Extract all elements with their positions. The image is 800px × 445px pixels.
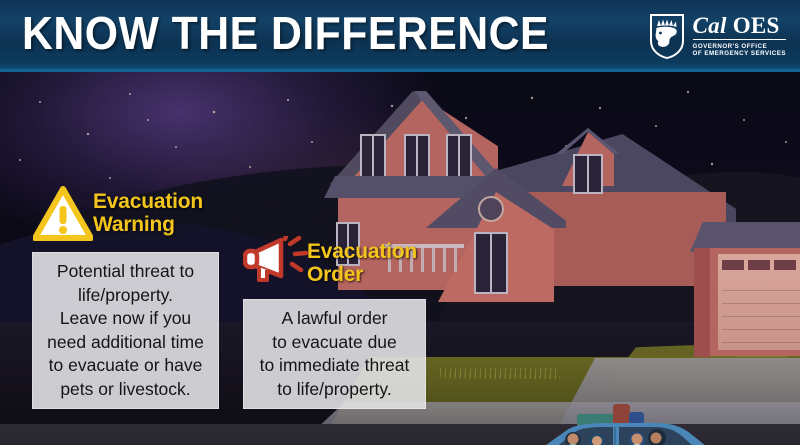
warning-triangle-icon <box>33 186 93 242</box>
evacuation-warning-label: Evacuation Warning <box>93 190 203 236</box>
garage-door-panels <box>722 278 800 350</box>
infographic-poster: KNOW THE DIFFERENCE Cal OES GOVERNOR'S O… <box>0 0 800 445</box>
logo-subtitle-line2: OF EMERGENCY SERVICES <box>693 50 786 58</box>
logo-brand-cal: Cal <box>693 13 727 38</box>
window-upper-center <box>404 134 430 182</box>
logo-brand: Cal OES <box>693 14 786 37</box>
evacuating-car <box>505 390 785 445</box>
garage-door-windows <box>722 260 800 270</box>
window-upper-right <box>446 134 472 182</box>
window-upper-left <box>360 134 386 182</box>
megaphone-sound-rays <box>285 236 306 270</box>
logo-divider <box>693 39 786 40</box>
page-title: KNOW THE DIFFERENCE <box>22 7 549 59</box>
garage-trim-left <box>694 248 710 360</box>
megaphone-mouth <box>245 251 257 267</box>
window-front-gable <box>474 232 508 294</box>
evacuation-warning-text: Potential threat to life/property. Leave… <box>32 252 219 409</box>
round-vent-window <box>478 196 504 222</box>
evacuation-order-text: A lawful order to evacuate due to immedi… <box>243 299 426 409</box>
logo-wordmark: Cal OES GOVERNOR'S OFFICE OF EMERGENCY S… <box>693 14 786 58</box>
header-banner: KNOW THE DIFFERENCE Cal OES GOVERNOR'S O… <box>0 0 800 72</box>
grass-strip <box>440 368 560 379</box>
logo-subtitle-line1: GOVERNOR'S OFFICE <box>693 43 786 51</box>
megaphone-icon <box>243 236 309 288</box>
window-dormer <box>573 154 603 194</box>
cal-oes-logo: Cal OES GOVERNOR'S OFFICE OF EMERGENCY S… <box>650 11 786 61</box>
bear-shield-icon <box>650 13 684 59</box>
logo-brand-oes: OES <box>733 13 780 38</box>
evacuation-order-label: Evacuation Order <box>307 240 417 286</box>
